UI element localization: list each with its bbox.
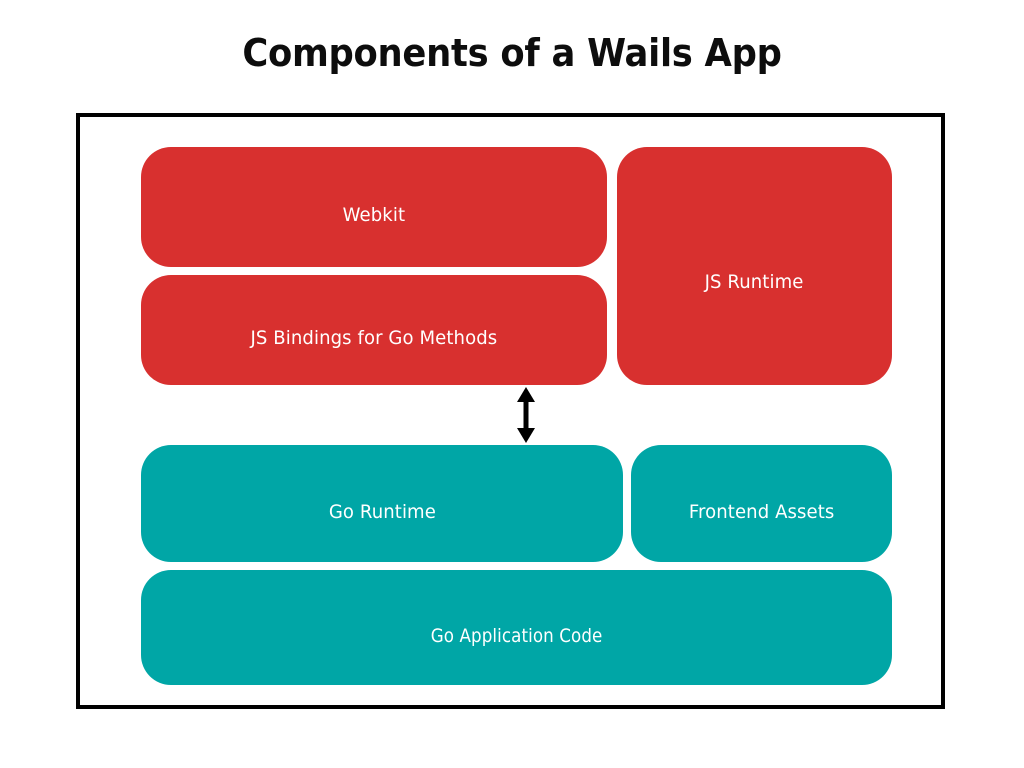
node-go-application-code-label: Go Application Code [431, 623, 603, 649]
node-js-runtime-label: JS Runtime [705, 269, 804, 295]
node-js-bindings-label: JS Bindings for Go Methods [251, 325, 498, 351]
node-go-application-code[interactable]: Go Application Code [141, 570, 892, 685]
bindings-runtime-connector [509, 387, 543, 443]
double-headed-arrow-icon [509, 387, 543, 443]
node-webkit-label: Webkit [343, 202, 405, 228]
slide-canvas: Components of a Wails App Webkit JS Bind… [0, 0, 1024, 768]
node-frontend-assets-label: Frontend Assets [689, 499, 835, 525]
node-js-runtime[interactable]: JS Runtime [617, 147, 892, 385]
node-js-bindings[interactable]: JS Bindings for Go Methods [141, 275, 607, 385]
node-webkit[interactable]: Webkit [141, 147, 607, 267]
page-title: Components of a Wails App [36, 28, 988, 78]
node-go-runtime-label: Go Runtime [328, 499, 435, 525]
diagram-frame: Webkit JS Bindings for Go Methods JS Run… [76, 113, 945, 709]
node-go-runtime[interactable]: Go Runtime [141, 445, 623, 562]
node-frontend-assets[interactable]: Frontend Assets [631, 445, 892, 562]
